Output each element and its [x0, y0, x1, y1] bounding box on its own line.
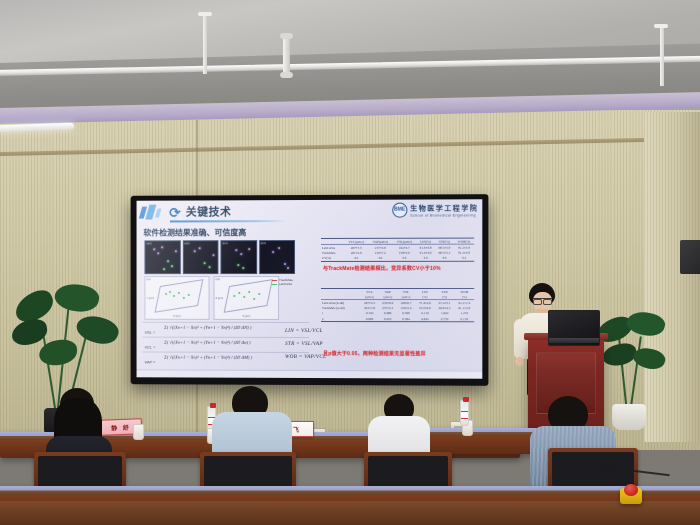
slide-header: ⟳ 关键技术 BME 生物医学工程学院 School of Biomedical…	[137, 199, 483, 223]
row-label: CV(%)	[321, 256, 344, 262]
legend-item: TrackMate	[279, 278, 293, 282]
formula-label: VAP =	[144, 359, 155, 364]
formula-row: VSL = Σ( √((Xn+1 − Xn)² + (Yn+1 − Yn)²) …	[142, 322, 309, 337]
sprinkler-pipe	[283, 35, 290, 73]
school-seal-icon: BME	[392, 203, 407, 218]
results-table-top: VCL(μm/s) VAP(μm/s) VSL(μm/s) LIN(%) STR…	[321, 238, 474, 262]
paper-cup	[133, 424, 144, 440]
cell: 3.9	[392, 255, 416, 261]
bottle-label	[461, 411, 468, 419]
desk-surface	[0, 486, 700, 495]
cell: 0.159	[454, 316, 474, 322]
header-accent-bars	[140, 205, 166, 220]
slide: ⟳ 关键技术 BME 生物医学工程学院 School of Biomedical…	[137, 199, 483, 378]
panel-label: (a2)	[184, 241, 189, 245]
cell: 0.759	[435, 316, 455, 322]
ratio-wob: WOB = VAP/VCL	[285, 354, 326, 360]
ratio-lin: LIN = VSL/VCL	[285, 328, 326, 334]
presenter-hand	[515, 357, 524, 366]
micrograph-panel: (a2)	[182, 240, 218, 274]
plot-legend: TrackMate LabCASA	[272, 278, 293, 287]
red-note-cv: 与TrackMate检测结果相比，变异系数CV小于10%	[323, 265, 441, 272]
formula-row: VCL = Σ( √((Xn+1 − Xn)² + (Yn+1 − Yn)²) …	[142, 337, 309, 352]
swoosh-icon: ⟳	[167, 205, 183, 221]
trajectory-plot: (c1) X (μm) Y (μm)	[144, 276, 209, 320]
cell: 3.6	[368, 255, 392, 261]
chair-back-cushion	[204, 456, 292, 488]
cell: 0.653	[379, 316, 397, 322]
plot-axis-x: X (μm)	[173, 315, 181, 318]
results-table-bottom: VCL VAP VSL LIN STR WOB (μm/s) (μm/s) (μ…	[321, 288, 474, 322]
plot-axis-y: Y (μm)	[146, 297, 154, 300]
formula-block: VSL = Σ( √((Xn+1 − Xn)² + (Yn+1 − Yn)²) …	[142, 322, 309, 367]
row-label: p	[321, 316, 360, 322]
micrograph-panel: (b2)	[259, 240, 295, 274]
school-logo: BME 生物医学工程学院 School of Biomedical Engine…	[392, 202, 478, 217]
glasses-icon	[533, 298, 552, 302]
pipe-hanger	[660, 26, 664, 86]
plant-pot	[612, 404, 646, 430]
pipe-hanger-cap	[198, 12, 212, 16]
pipe-hanger-cap	[654, 24, 668, 28]
bottle-cap	[210, 403, 216, 408]
plot-box	[154, 279, 203, 313]
sprinkler-head	[280, 33, 293, 39]
slide-title: 关键技术	[186, 203, 232, 219]
presenter-monitor[interactable]	[548, 310, 600, 346]
formula-row: VAP = Σ( √((Xn+1 − Xn)² + (Yn+1 − Yn)²) …	[142, 352, 309, 367]
cell: 0.584	[397, 316, 415, 322]
table-row: CV(%) 4.5 3.6 3.9 4.9 4.9 4.2	[321, 255, 474, 261]
name-card-text: 静 舒	[111, 422, 131, 432]
plot-axis-z: Z (μm)	[215, 297, 223, 300]
slide-subtitle: 软件检测结果准确、可信度高	[143, 227, 246, 238]
micrograph-strip: (a1) (a2) (b1)	[144, 240, 295, 274]
cell: 0.843	[415, 316, 435, 322]
legend-item: LabCASA	[279, 282, 292, 286]
wall-panel-right	[644, 112, 700, 442]
formula-label: VSL =	[144, 330, 155, 335]
cell: 4.9	[435, 255, 454, 261]
cell: 4.2	[454, 255, 474, 261]
wall-speaker	[680, 240, 700, 274]
emergency-stop-button[interactable]	[620, 488, 642, 504]
school-name-en: School of Biomedical Engineering	[410, 213, 478, 217]
monitor-base-bar	[549, 338, 599, 343]
school-name-cn: 生物医学工程学院	[410, 203, 478, 213]
pipe-hanger	[203, 14, 207, 74]
panel-label: (a1)	[146, 241, 151, 245]
formula-expression: Σ( √((Xn+1 − Xn)² + (Yn+1 − Yn)²) / (ΔT·…	[164, 325, 251, 330]
title-underline	[170, 220, 287, 222]
chair-back-cushion	[38, 456, 122, 488]
formula-expression: Σ( √((Xn+1 − Xn)² + (Yn+1 − Yn)²) / (ΔT·…	[164, 355, 252, 360]
micrograph-panel: (b1)	[220, 240, 256, 274]
plot-axis-x: X (μm)	[242, 315, 250, 318]
bottle-cap	[463, 397, 469, 402]
formula-label: VCL =	[144, 345, 155, 350]
water-bottle	[460, 400, 469, 426]
presentation-display[interactable]: ⟳ 关键技术 BME 生物医学工程学院 School of Biomedical…	[131, 194, 489, 386]
estop-red-cap-icon[interactable]	[624, 484, 638, 496]
plot-label: (c1)	[146, 278, 150, 281]
chair-back-cushion	[368, 456, 448, 488]
floor	[0, 501, 700, 525]
ratio-definitions: LIN = VSL/VCL STR = VSL/VAP WOB = VAP/VC…	[285, 328, 326, 367]
panel-label: (b2)	[261, 241, 266, 245]
conference-room-scene: ⟳ 关键技术 BME 生物医学工程学院 School of Biomedical…	[0, 0, 700, 525]
plot-label: (c2)	[215, 278, 219, 281]
formula-expression: Σ( √((Xn+1 − Xn)² + (Yn+1 − Yn)²) / (ΔT·…	[164, 340, 251, 345]
ratio-str: STR = VSL/VAP	[285, 341, 326, 347]
plot-box	[224, 279, 273, 313]
cell: 4.5	[344, 255, 368, 261]
table-row: p 0.609 0.653 0.584 0.843 0.759 0.159	[321, 316, 474, 322]
panel-label: (b1)	[222, 241, 227, 245]
trajectory-plot: (c2) X (μm) Z (μm)	[214, 276, 280, 320]
cell: 0.609	[360, 316, 378, 322]
powerpoint-status-bar: 幻灯片 7/14 中文(中国)	[137, 369, 483, 378]
red-note-pvalue: 且p值大于0.05，两种检测结果无显著性差异	[323, 350, 426, 357]
sprinkler-head	[280, 72, 293, 78]
cell: 4.9	[416, 255, 435, 261]
micrograph-panel: (a1)	[144, 240, 180, 274]
